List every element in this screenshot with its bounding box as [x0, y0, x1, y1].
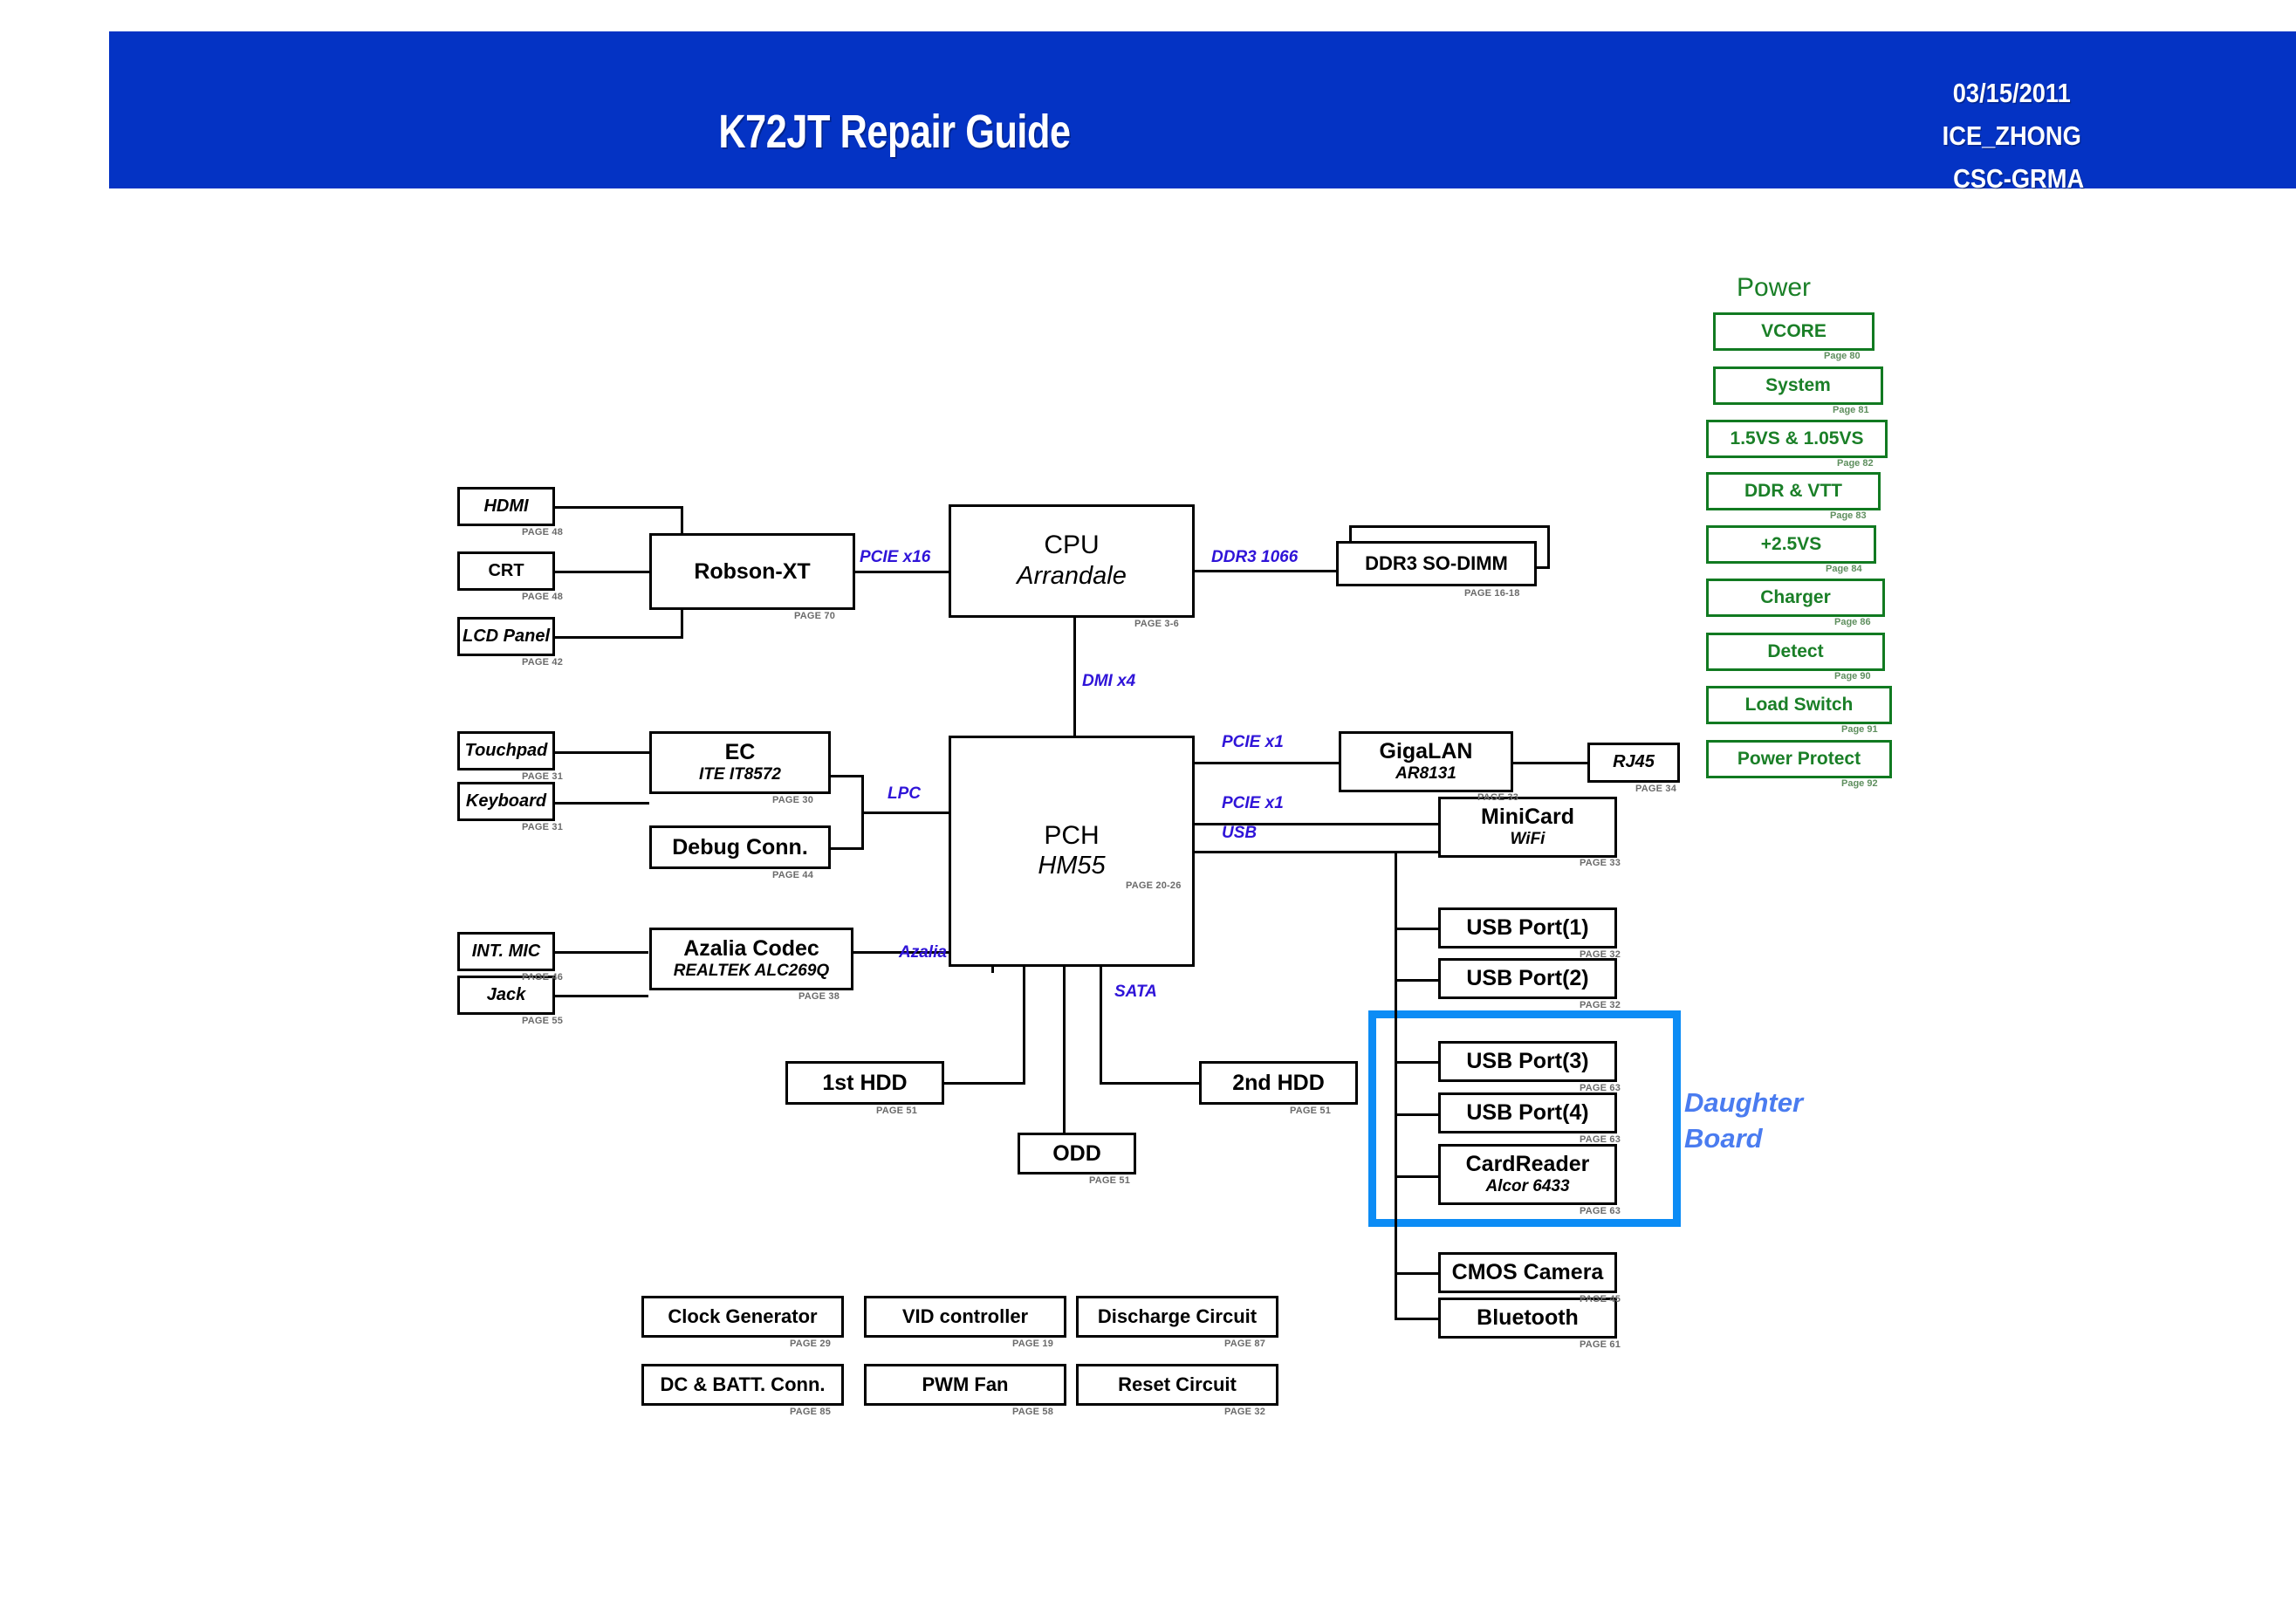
block-ddr3-sodimm[interactable]: DDR3 SO-DIMM — [1336, 541, 1537, 586]
block-touchpad[interactable]: Touchpad — [457, 731, 555, 770]
line-usb-trunk — [1395, 851, 1397, 1318]
power-item-label: Charger — [1760, 587, 1831, 608]
power-page-2-5vs: Page 84 — [1826, 564, 1862, 574]
power-page-power-protect: Page 92 — [1841, 778, 1878, 789]
power-page-vcore: Page 80 — [1824, 351, 1861, 361]
page-ref-int-mic: PAGE 46 — [522, 972, 563, 983]
block-odd[interactable]: ODD — [1018, 1133, 1136, 1174]
power-item-label: VCORE — [1761, 321, 1827, 342]
power-page-1-5vs-1-05vs: Page 82 — [1837, 458, 1874, 469]
line-cardreader-stub — [1395, 1175, 1440, 1178]
block-keyboard[interactable]: Keyboard — [457, 782, 555, 821]
block-usb-port-4[interactable]: USB Port(4) — [1438, 1092, 1617, 1133]
page-ref-pwm-fan: PAGE 58 — [1012, 1407, 1053, 1417]
block-cpu[interactable]: CPU Arrandale — [949, 504, 1195, 618]
header-meta: 03/15/2011 ICE_ZHONG CSC-GRMA — [1939, 72, 2084, 200]
line-gigalan-rj45 — [1513, 762, 1587, 764]
page-ref-2nd-hdd: PAGE 51 — [1290, 1106, 1331, 1116]
page-ref-1st-hdd: PAGE 51 — [876, 1106, 917, 1116]
power-item-power-protect[interactable]: Power Protect — [1706, 740, 1892, 778]
line-usb4-stub — [1395, 1113, 1440, 1116]
page-ref-ec: PAGE 30 — [772, 795, 813, 805]
block-reset-circuit[interactable]: Reset Circuit — [1076, 1364, 1278, 1406]
line-robson-cpu — [853, 571, 949, 573]
line-pch-usb — [1194, 851, 1438, 853]
power-item-label: +2.5VS — [1761, 534, 1821, 555]
power-item-1-5vs-1-05vs[interactable]: 1.5VS & 1.05VS — [1706, 420, 1888, 458]
page-ref-discharge-circuit: PAGE 87 — [1224, 1339, 1265, 1349]
page-ref-usb-port-1: PAGE 32 — [1580, 949, 1621, 960]
page-ref-debug-conn: PAGE 44 — [772, 870, 813, 880]
block-ec[interactable]: EC ITE IT8572 — [649, 731, 831, 794]
page-ref-keyboard: PAGE 31 — [522, 822, 563, 832]
page-ref-cpu: PAGE 3-6 — [1134, 619, 1179, 629]
line-lpc-pch — [861, 811, 951, 814]
daughter-board-label: Daughter Board — [1684, 1085, 1803, 1156]
block-discharge-circuit[interactable]: Discharge Circuit — [1076, 1296, 1278, 1338]
page-ref-pch: PAGE 20-26 — [1126, 880, 1182, 891]
block-debug-conn[interactable]: Debug Conn. — [649, 825, 831, 869]
page-ref-dc-batt-conn: PAGE 85 — [790, 1407, 831, 1417]
power-item-label: Detect — [1767, 641, 1823, 662]
block-usb-port-2[interactable]: USB Port(2) — [1438, 958, 1617, 999]
page-ref-bluetooth: PAGE 61 — [1580, 1339, 1621, 1350]
line-hdd1-v — [1023, 967, 1025, 1084]
line-usb1-stub — [1395, 928, 1440, 930]
power-page-load-switch: Page 91 — [1841, 724, 1878, 735]
block-pwm-fan[interactable]: PWM Fan — [864, 1364, 1066, 1406]
line-touchpad-ec — [552, 751, 649, 754]
block-int-mic[interactable]: INT. MIC — [457, 932, 555, 971]
page-ref-rj45: PAGE 34 — [1635, 784, 1676, 794]
line-sata-v — [1100, 967, 1102, 1084]
power-item-label: DDR & VTT — [1744, 481, 1842, 502]
page-ref-reset-circuit: PAGE 32 — [1224, 1407, 1265, 1417]
page-ref-usb-port-2: PAGE 32 — [1580, 1000, 1621, 1010]
power-item-2-5vs[interactable]: +2.5VS — [1706, 525, 1876, 564]
page-ref-usb-port-3: PAGE 63 — [1580, 1083, 1621, 1093]
block-cardreader[interactable]: CardReader Alcor 6433 — [1438, 1144, 1617, 1205]
line-odd-v — [1063, 967, 1066, 1133]
block-clock-generator[interactable]: Clock Generator — [641, 1296, 844, 1338]
power-section-title: Power — [1737, 273, 1811, 303]
bus-label-azalia: Azalia — [899, 943, 947, 962]
page-title: K72JT Repair Guide — [636, 105, 1153, 159]
page-ref-ddr3-sodimm: PAGE 16-18 — [1464, 588, 1520, 599]
page-ref-touchpad: PAGE 31 — [522, 771, 563, 782]
page-ref-robson-xt: PAGE 70 — [794, 611, 835, 621]
bus-label-pcie-x1-mc: PCIE x1 — [1222, 794, 1284, 813]
block-azalia-codec[interactable]: Azalia Codec REALTEK ALC269Q — [649, 928, 853, 990]
block-usb-port-1[interactable]: USB Port(1) — [1438, 907, 1617, 948]
line-lcd-h — [552, 636, 683, 639]
line-keyboard-ec — [552, 802, 649, 805]
line-pch-gigalan — [1194, 762, 1339, 764]
line-hdd2-h — [1100, 1082, 1200, 1085]
header-author: ICE_ZHONG — [1939, 114, 2084, 157]
power-item-vcore[interactable]: VCORE — [1713, 312, 1874, 351]
line-mic-codec — [552, 951, 648, 954]
block-minicard[interactable]: MiniCard WiFi — [1438, 797, 1617, 858]
block-pch[interactable]: PCH HM55 — [949, 736, 1195, 967]
block-cmos-camera[interactable]: CMOS Camera — [1438, 1252, 1617, 1293]
line-azalia-to-pch — [991, 972, 994, 973]
power-page-detect: Page 90 — [1834, 671, 1871, 681]
block-rj45[interactable]: RJ45 — [1587, 743, 1680, 783]
block-crt[interactable]: CRT — [457, 551, 555, 591]
page-ref-azalia-codec: PAGE 38 — [798, 991, 840, 1002]
bus-label-sata: SATA — [1114, 983, 1157, 1002]
bus-label-ddr3-1066: DDR3 1066 — [1211, 548, 1298, 567]
block-gigalan[interactable]: GigaLAN AR8131 — [1339, 731, 1513, 792]
block-lcd-panel[interactable]: LCD Panel — [457, 617, 555, 656]
power-item-label: Power Protect — [1737, 749, 1861, 770]
power-page-system: Page 81 — [1833, 405, 1869, 415]
page-ref-jack: PAGE 55 — [522, 1016, 563, 1026]
bus-label-pcie-x1-lan: PCIE x1 — [1222, 733, 1284, 752]
page-ref-crt: PAGE 48 — [522, 592, 563, 602]
power-item-label: Load Switch — [1745, 695, 1854, 716]
bus-label-lpc: LPC — [888, 784, 921, 804]
line-hdd1-h — [942, 1082, 1025, 1085]
power-item-system[interactable]: System — [1713, 366, 1883, 405]
line-ec-lpc-h — [829, 775, 864, 777]
line-cpu-pch — [1073, 618, 1076, 736]
line-cpu-ddr3 — [1194, 570, 1337, 572]
line-debug-lpc-h — [829, 847, 864, 850]
line-usb3-stub — [1395, 1061, 1440, 1064]
page-ref-lcd-panel: PAGE 42 — [522, 657, 563, 668]
page-ref-hdmi: PAGE 48 — [522, 527, 563, 538]
block-2nd-hdd[interactable]: 2nd HDD — [1199, 1061, 1358, 1105]
power-item-charger[interactable]: Charger — [1706, 579, 1885, 617]
power-item-label: 1.5VS & 1.05VS — [1731, 428, 1864, 449]
power-page-charger: Page 86 — [1834, 617, 1871, 627]
power-item-label: System — [1765, 375, 1831, 396]
page-ref-cmos-camera: PAGE 45 — [1580, 1294, 1621, 1305]
header-date: 03/15/2011 — [1939, 72, 2084, 114]
power-page-ddr-vtt: Page 83 — [1830, 510, 1867, 521]
page-ref-clock-generator: PAGE 29 — [790, 1339, 831, 1349]
page-ref-cardreader: PAGE 63 — [1580, 1206, 1621, 1216]
bus-label-dmi-x4: DMI x4 — [1082, 672, 1135, 691]
power-item-load-switch[interactable]: Load Switch — [1706, 686, 1892, 724]
page-ref-gigalan: PAGE 33 — [1477, 792, 1518, 803]
line-jack-codec — [552, 995, 648, 997]
block-1st-hdd[interactable]: 1st HDD — [785, 1061, 944, 1105]
block-hdmi[interactable]: HDMI — [457, 487, 555, 526]
page-ref-minicard: PAGE 33 — [1580, 858, 1621, 868]
block-robson-xt[interactable]: Robson-XT — [649, 533, 855, 610]
slide-canvas: K72JT Repair Guide 03/15/2011 ICE_ZHONG … — [0, 0, 2296, 1623]
page-ref-odd: PAGE 51 — [1089, 1175, 1130, 1186]
slide-header-bar: K72JT Repair Guide 03/15/2011 ICE_ZHONG … — [109, 31, 2296, 188]
line-bluetooth-stub — [1395, 1318, 1440, 1320]
power-item-detect[interactable]: Detect — [1706, 633, 1885, 671]
power-item-ddr-vtt[interactable]: DDR & VTT — [1706, 472, 1881, 510]
bus-label-usb: USB — [1222, 824, 1257, 843]
header-org: CSC-GRMA — [1939, 157, 2084, 200]
page-ref-usb-port-4: PAGE 63 — [1580, 1134, 1621, 1145]
line-camera-stub — [1395, 1272, 1440, 1275]
block-dc-batt-conn[interactable]: DC & BATT. Conn. — [641, 1364, 844, 1406]
bus-label-pcie-x16: PCIE x16 — [860, 548, 930, 567]
line-hdmi-h — [552, 506, 683, 509]
line-usb2-stub — [1395, 979, 1440, 982]
block-usb-port-3[interactable]: USB Port(3) — [1438, 1041, 1617, 1082]
page-ref-vid-controller: PAGE 19 — [1012, 1339, 1053, 1349]
block-vid-controller[interactable]: VID controller — [864, 1296, 1066, 1338]
